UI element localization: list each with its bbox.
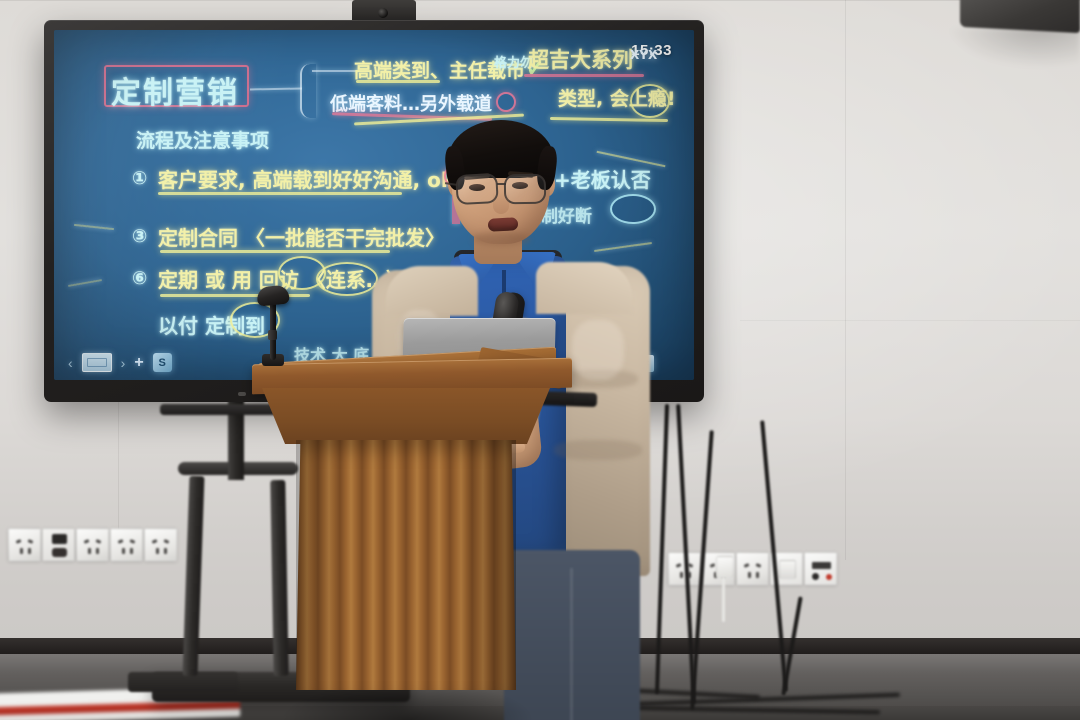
circle-mark — [496, 92, 516, 112]
whiteboard-line-subtitle: 流程及注意事项 — [136, 126, 269, 153]
underline — [356, 80, 440, 83]
wall-socket-dark[interactable] — [42, 528, 75, 561]
jacket-shoulder — [536, 262, 632, 314]
sync-icon[interactable]: S — [153, 353, 172, 372]
connector-line — [250, 88, 302, 91]
whiteboard-item-1-number: ① — [132, 168, 147, 189]
wall-socket[interactable] — [110, 528, 143, 561]
connector-line — [312, 70, 360, 72]
circle-mark — [316, 262, 378, 296]
stroke — [68, 279, 102, 287]
apps-grid-icon[interactable] — [661, 355, 680, 372]
gooseneck-mic-joint — [268, 330, 277, 340]
next-page-icon[interactable]: › — [121, 355, 126, 371]
page-thumbnail[interactable] — [82, 353, 112, 372]
fabric-fold — [554, 440, 642, 460]
jacket-shoulder — [386, 266, 478, 316]
trouser-crease — [570, 568, 573, 720]
chin-shadow — [472, 232, 530, 246]
wall-socket[interactable] — [8, 528, 41, 561]
wall-outlet-group-left[interactable] — [8, 528, 177, 561]
underline — [524, 74, 644, 77]
wall-seam — [740, 320, 1080, 321]
nose — [493, 192, 509, 214]
ir-receiver — [238, 392, 246, 396]
add-page-icon[interactable]: + — [134, 354, 143, 372]
wall-outlet-group-right[interactable] — [668, 552, 837, 585]
whiteboard-title: 定制营销 — [111, 68, 239, 112]
underline — [160, 250, 390, 253]
plug-wire — [722, 576, 725, 622]
podium-body — [262, 388, 550, 444]
glasses-bridge — [497, 183, 506, 185]
brace — [300, 64, 316, 118]
wall-seam — [0, 0, 1080, 1]
whiteboard-item-3-number: ③ — [132, 226, 147, 247]
podium-column-shading — [296, 440, 516, 690]
screen-toolbar-left[interactable]: ‹ › + S — [68, 353, 172, 372]
power-plug — [716, 556, 734, 578]
wall-panel-line — [845, 0, 846, 560]
whiteboard-item-5-number: ⑥ — [132, 268, 147, 289]
mouth — [488, 217, 519, 232]
camera-lens-icon — [378, 8, 388, 18]
lens — [504, 174, 547, 205]
circle-mark — [630, 84, 670, 118]
underline — [158, 192, 402, 195]
prev-page-icon[interactable]: ‹ — [68, 355, 73, 371]
stroke — [74, 224, 114, 230]
fabric-highlight — [572, 320, 624, 380]
ac-unit-shadow — [948, 28, 1080, 68]
classroom-scene: 15:33 定制营销 高端类到、主任载市 ✓ 低端客料…另外载道 格力勿 超吉大… — [0, 0, 1080, 720]
wall-socket[interactable] — [76, 528, 109, 561]
whiteboard-line-head-right: 超吉大系列 — [528, 44, 633, 74]
wall-socket[interactable] — [144, 528, 177, 561]
whiteboard-line-head-right-3: XYX — [630, 48, 657, 62]
wall-socket[interactable] — [736, 552, 769, 585]
wall-port-panel[interactable] — [804, 552, 837, 585]
